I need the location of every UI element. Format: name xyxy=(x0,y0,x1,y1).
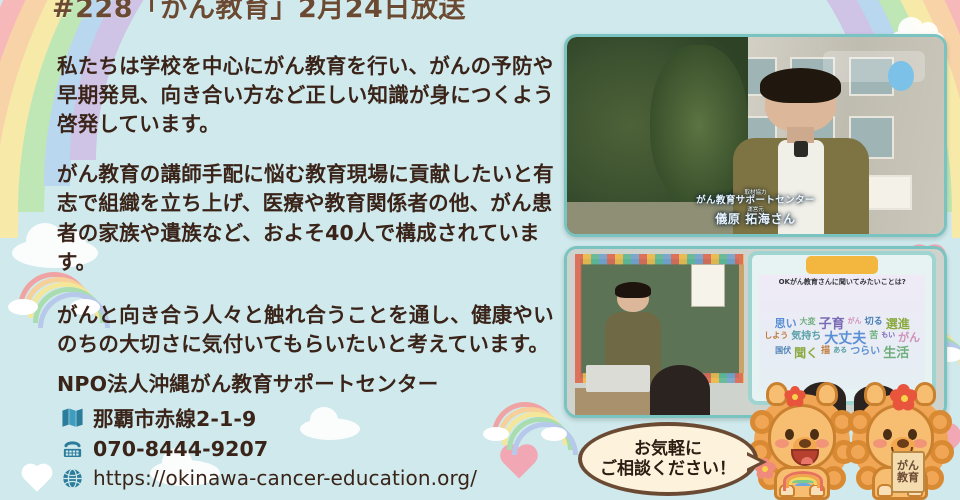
rainbow-prop xyxy=(783,471,823,491)
word-cloud-term: 国伏 xyxy=(775,347,791,360)
interview-caption: 取材協力 がん教育サポートセンター 運営元 儀原 拓海さん xyxy=(597,190,914,226)
hibiscus-flower-icon xyxy=(784,386,806,408)
word-cloud-term: しよう xyxy=(764,332,788,346)
word-cloud-term: 切る xyxy=(865,318,883,331)
paragraph-3: がんと向き合う人々と触れ合うことを通し、健康やいのちの大切さに気付いてもらいたい… xyxy=(57,301,557,359)
page-title: #228「がん教育」2月24日放送 xyxy=(52,0,466,25)
shisa-mascot-rainbow xyxy=(752,388,852,500)
word-cloud-term: 聞く xyxy=(794,347,818,360)
word-cloud-term: もい xyxy=(881,332,895,346)
map-icon xyxy=(61,406,84,429)
speech-bubble: お気軽に ご相談ください！ xyxy=(578,422,758,496)
small-rainbow-decoration xyxy=(492,402,558,435)
gan-kyoiku-sign: がん 教育 xyxy=(891,451,925,493)
contact-row-website[interactable]: https://okinawa-cancer-education.org/ xyxy=(57,466,477,490)
word-cloud: 思い大変子育がん切る選進しよう気持ち大丈夫苦もいがん国伏聞く描あるつらい生活 xyxy=(764,291,920,387)
shisa-mascot-sign: がん 教育 xyxy=(850,388,950,500)
open-mouth xyxy=(791,449,819,466)
contact-row-address: 那覇市赤線2-1-9 xyxy=(57,402,477,432)
heart-decoration xyxy=(24,466,49,491)
word-cloud-term: がん xyxy=(898,332,920,346)
telephone-icon xyxy=(61,438,84,461)
contact-block: NPO法人沖縄がん教育サポートセンター 那覇市赤線2-1-9 070-8444- xyxy=(57,367,477,490)
hibiscus-flower-icon xyxy=(890,384,918,412)
laptop xyxy=(586,365,650,392)
phone-text: 070-8444-9207 xyxy=(93,437,268,461)
word-cloud-term: 生活 xyxy=(883,347,909,360)
body-copy: 私たちは学校を中心にがん教育を行い、がんの予防や早期発見、向き合い方など正しい知… xyxy=(57,52,557,359)
bubble-tail xyxy=(747,452,767,472)
word-cloud-term: 選進 xyxy=(886,318,910,331)
globe-icon xyxy=(61,467,84,490)
organization-name: NPO法人沖縄がん教育サポートセンター xyxy=(57,367,477,397)
wall-notice xyxy=(691,264,725,307)
interview-scene: 取材協力 がん教育サポートセンター 運営元 儀原 拓海さん xyxy=(567,37,944,234)
word-cloud-term: がん xyxy=(848,318,862,331)
caption-role: 運営元 xyxy=(597,207,914,213)
word-cloud-term: 大変 xyxy=(800,318,816,331)
word-cloud-question: OKがん教育さんに聞いてみたいことは? xyxy=(769,277,915,287)
word-cloud-term: 思い xyxy=(775,318,797,331)
interview-clip[interactable]: 取材協力 がん教育サポートセンター 運営元 儀原 拓海さん xyxy=(564,34,947,237)
caption-org: がん教育サポートセンター xyxy=(597,196,914,207)
paragraph-1: 私たちは学校を中心にがん教育を行い、がんの予防や早期発見、向き合い方など正しい知… xyxy=(57,52,557,139)
bubble-line-2: ご相談ください！ xyxy=(600,459,736,479)
website-text[interactable]: https://okinawa-cancer-education.org/ xyxy=(93,466,477,490)
address-text: 那覇市赤線2-1-9 xyxy=(93,402,256,432)
paragraph-2: がん教育の講師手配に悩む教育現場に貢献したいと有志で組織を立ち上げ、医療や教育関… xyxy=(57,160,557,276)
sign-line-2: 教育 xyxy=(897,472,919,484)
word-cloud-term: 苦 xyxy=(869,332,878,346)
word-cloud-term: 子育 xyxy=(819,318,845,331)
mascot-group: がん 教育 xyxy=(752,388,960,500)
student-silhouette xyxy=(650,365,710,415)
word-cloud-term: 描 xyxy=(821,347,830,360)
word-cloud-term: 大丈夫 xyxy=(824,332,866,346)
bubble-line-1: お気軽に xyxy=(634,439,702,459)
caption-small: 取材協力 xyxy=(597,190,914,196)
word-cloud-term: ある xyxy=(833,347,847,360)
contact-row-phone: 070-8444-9207 xyxy=(57,437,477,461)
caption-person: 儀原 拓海さん xyxy=(597,213,914,226)
program-logo-badge xyxy=(806,256,878,274)
balloon-decoration xyxy=(888,61,914,91)
word-cloud-term: 気持ち xyxy=(791,332,821,346)
word-cloud-term: つらい xyxy=(850,347,880,360)
